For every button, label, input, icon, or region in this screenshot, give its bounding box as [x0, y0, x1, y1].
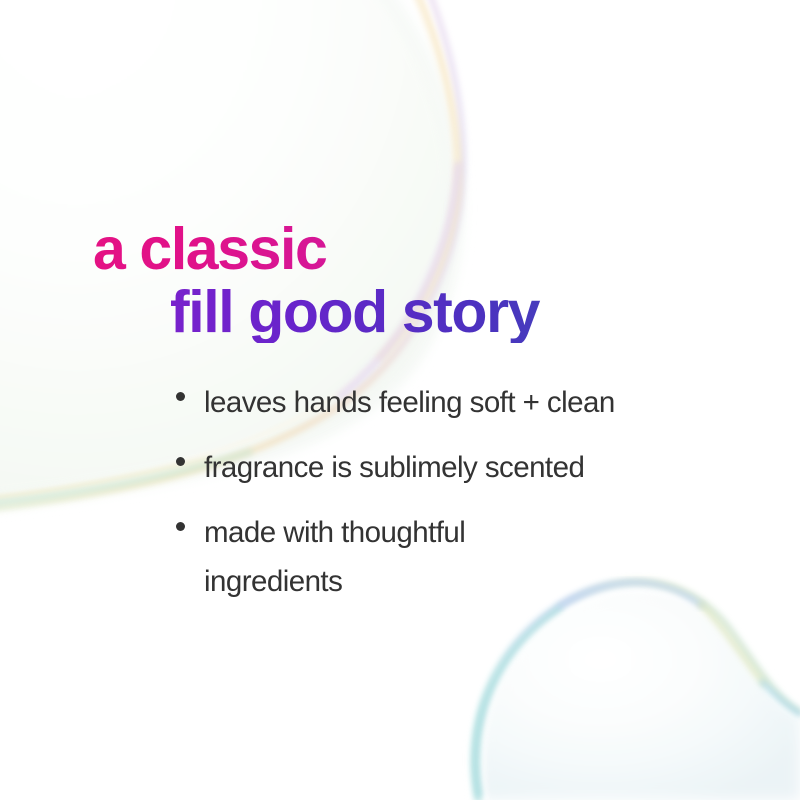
- list-item: fragrance is sublimely scented: [176, 443, 615, 492]
- headline-line-2: fill good story: [0, 281, 800, 343]
- headline: a classic fill good story: [0, 218, 800, 343]
- list-item-label: fragrance is sublimely scented: [204, 443, 584, 492]
- promo-graphic-canvas: a classic fill good story leaves hands f…: [0, 0, 800, 800]
- bullet-dot-icon: [176, 457, 185, 466]
- list-item: made with thoughtful ingredients: [176, 508, 615, 606]
- bullet-dot-icon: [176, 522, 185, 531]
- list-item-label: made with thoughtful ingredients: [204, 508, 465, 606]
- headline-line-1: a classic: [0, 218, 800, 280]
- benefits-list: leaves hands feeling soft + clean fragra…: [176, 378, 615, 622]
- bullet-dot-icon: [176, 392, 185, 401]
- list-item-label: leaves hands feeling soft + clean: [204, 378, 615, 427]
- list-item: leaves hands feeling soft + clean: [176, 378, 615, 427]
